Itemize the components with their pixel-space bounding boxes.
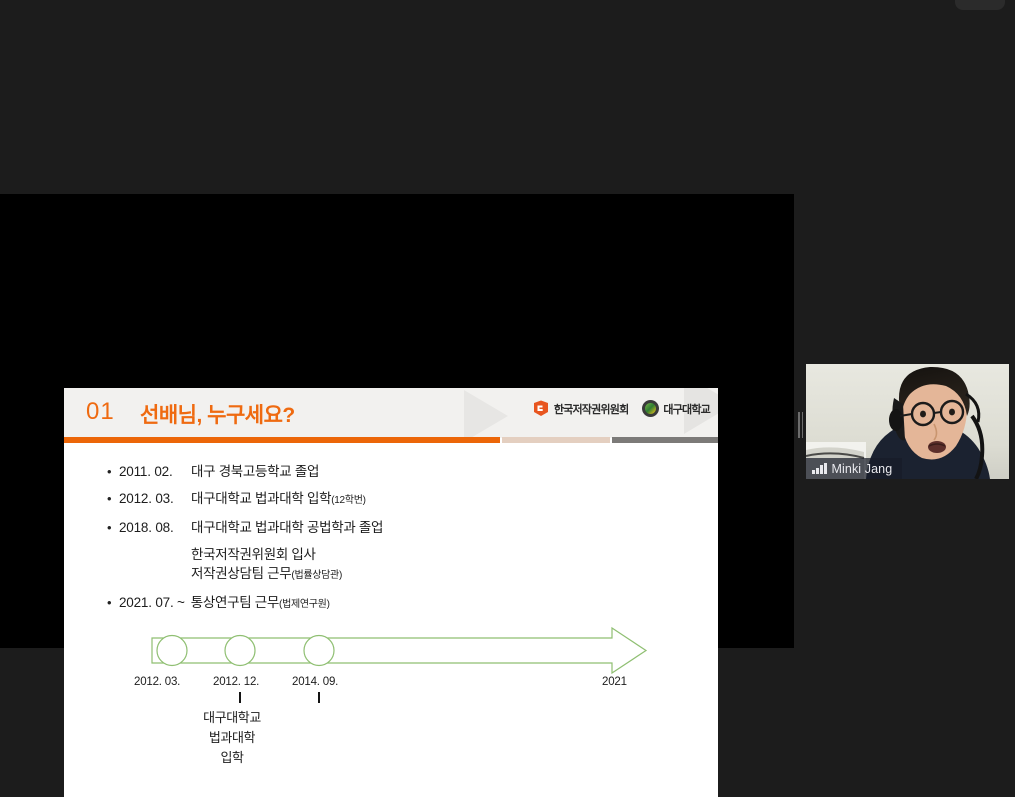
bullet-date: 2011. 02. (119, 462, 191, 481)
bullet-annotation: (12학번) (331, 495, 365, 506)
timeline-tick (318, 692, 320, 703)
bullet-date: 2021. 07. ~ (119, 593, 185, 612)
korea-copyright-commission-logo: 한국저작권위원회 (532, 400, 629, 417)
daegu-university-logo-text: 대구대학교 (663, 401, 710, 417)
section-number: 01 (86, 398, 115, 426)
timeline-caption-line: 법과대학 (172, 728, 292, 748)
bullet-text: 대구 경북고등학교 졸업 (191, 462, 319, 481)
timeline-diagram: 2012. 03. 2012. 12. 2014. 09. 2021 대구대학교… (150, 626, 650, 746)
slide-header: 01 선배님, 누구세요? 한국저작권위원회 (64, 388, 718, 438)
list-item: • 2012. 03. 대구대학교 법과대학 입학(12학번) (107, 489, 667, 510)
kcc-mark-icon (532, 400, 550, 417)
rule-segment-tan (502, 437, 610, 443)
list-item: • 2018. 08. 대구대학교 법과대학 공법학과 졸업 (107, 518, 667, 537)
timeline-label: 2012. 12. (213, 676, 259, 688)
screen-share-window: 01 선배님, 누구세요? 한국저작권위원회 (0, 0, 1015, 797)
signal-bars-icon (812, 463, 827, 474)
bullet-subline: 저작권상담팀 근무(법률상담관) (191, 564, 667, 585)
daegu-university-mark-icon (642, 400, 659, 417)
bullet-marker: • (107, 593, 119, 612)
daegu-university-logo: 대구대학교 (642, 400, 710, 417)
triangle-watermark-icon (464, 390, 508, 442)
timeline-caption-line: 대구대학교 (172, 708, 292, 728)
timeline-label: 2012. 03. (134, 676, 180, 688)
rule-segment-gray (612, 437, 718, 443)
bullet-date: 2012. 03. (119, 489, 191, 508)
logo-group: 한국저작권위원회 대구대학교 (532, 400, 710, 417)
bullet-subline: 한국저작권위원회 입사 (191, 545, 667, 564)
subline-annotation: (법률상담관) (291, 570, 342, 581)
timeline-end-label: 2021 (602, 676, 627, 688)
list-item: • 2011. 02. 대구 경북고등학교 졸업 (107, 462, 667, 481)
floating-toolbar-pill[interactable] (955, 0, 1005, 10)
timeline-caption: 대구대학교 법과대학 입학 (172, 708, 292, 768)
participant-name-bar: Minki Jang (806, 458, 902, 479)
bullet-annotation: (법제연구원) (279, 599, 330, 610)
presentation-slide: 01 선배님, 누구세요? 한국저작권위원회 (64, 388, 718, 797)
timeline-label: 2014. 09. (292, 676, 338, 688)
bullet-marker: • (107, 489, 119, 508)
bullet-marker: • (107, 518, 119, 537)
timeline-tick (239, 692, 241, 703)
participant-video-tile[interactable]: Minki Jang (806, 364, 1009, 479)
bullet-text: 대구대학교 법과대학 공법학과 졸업 (191, 518, 383, 537)
bullet-text: 통상연구팀 근무(법제연구원) (191, 593, 330, 614)
kcc-logo-text: 한국저작권위원회 (554, 401, 629, 417)
header-rule (64, 437, 718, 443)
participant-name: Minki Jang (832, 462, 893, 476)
rule-segment-orange (64, 437, 500, 443)
list-item: • 2021. 07. ~ 통상연구팀 근무(법제연구원) (107, 593, 667, 614)
bullet-list: • 2011. 02. 대구 경북고등학교 졸업 • 2012. 03. 대구대… (107, 462, 667, 622)
timeline-caption-line: 입학 (172, 748, 292, 768)
bullet-marker: • (107, 462, 119, 481)
slide-title: 선배님, 누구세요? (140, 399, 295, 429)
bullet-date: 2018. 08. (119, 518, 191, 537)
drag-handle-icon[interactable] (797, 412, 804, 438)
shared-screen-stage: 01 선배님, 누구세요? 한국저작권위원회 (0, 194, 794, 648)
bullet-text: 대구대학교 법과대학 입학(12학번) (191, 489, 366, 510)
